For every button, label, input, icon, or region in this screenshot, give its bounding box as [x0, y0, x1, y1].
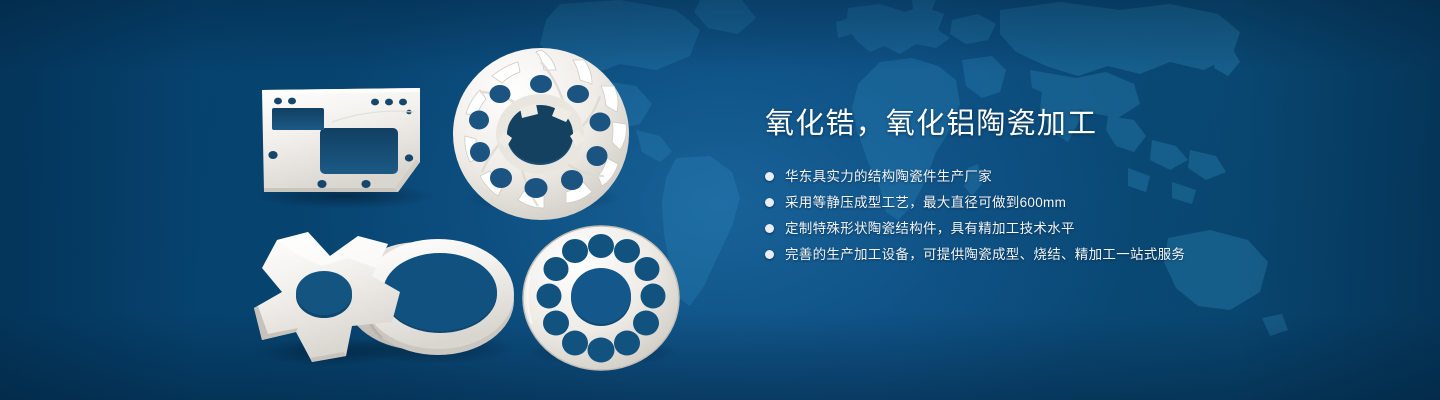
product-images [0, 0, 740, 400]
bullet-dot-icon [765, 172, 774, 181]
feature-list: 华东具实力的结构陶瓷件生产厂家 采用等静压成型工艺，最大直径可做到600mm 定… [765, 166, 1385, 265]
bullet-dot-icon [765, 224, 774, 233]
feature-text: 采用等静压成型工艺，最大直径可做到600mm [785, 193, 1066, 213]
bullet-dot-icon [765, 250, 774, 259]
ceramic-machined-plate [253, 88, 437, 209]
ceramic-cross-part [254, 232, 402, 366]
list-item: 定制特殊形状陶瓷结构件，具有精加工技术水平 [765, 218, 1385, 239]
promo-banner: 氧化锆，氧化铝陶瓷加工 华东具实力的结构陶瓷件生产厂家 采用等静压成型工艺，最大… [0, 0, 1440, 400]
list-item: 完善的生产加工设备，可提供陶瓷成型、烧结、精加工一站式服务 [765, 244, 1385, 265]
feature-text: 完善的生产加工设备，可提供陶瓷成型、烧结、精加工一站式服务 [785, 245, 1185, 265]
list-item: 华东具实力的结构陶瓷件生产厂家 [765, 166, 1385, 187]
bullet-dot-icon [765, 198, 774, 207]
banner-copy: 氧化锆，氧化铝陶瓷加工 华东具实力的结构陶瓷件生产厂家 采用等静压成型工艺，最大… [765, 104, 1385, 281]
page-title: 氧化锆，氧化铝陶瓷加工 [765, 104, 1385, 144]
feature-text: 华东具实力的结构陶瓷件生产厂家 [785, 167, 992, 187]
feature-text: 定制特殊形状陶瓷结构件，具有精加工技术水平 [785, 219, 1075, 239]
ceramic-impeller [453, 48, 629, 220]
list-item: 采用等静压成型工艺，最大直径可做到600mm [765, 192, 1385, 213]
ceramic-perforated-disc [523, 226, 679, 370]
